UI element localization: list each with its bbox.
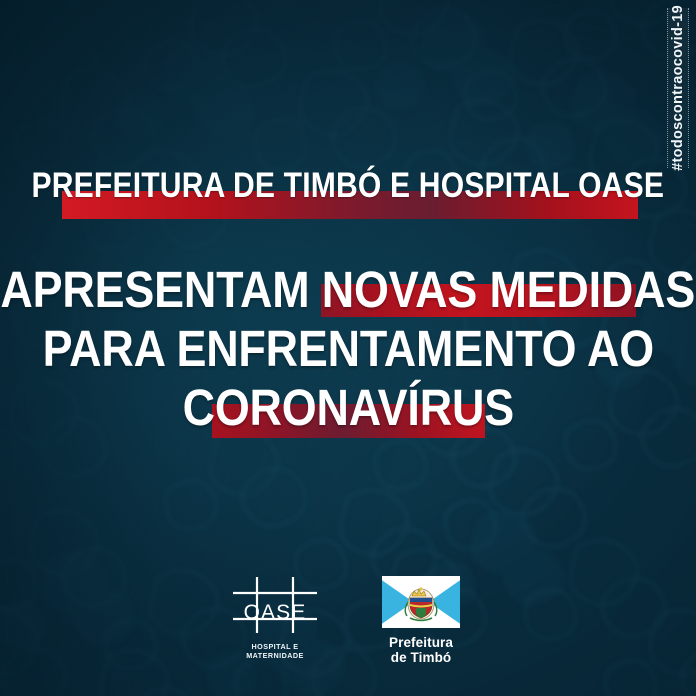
headline-block: PREFEITURA DE TIMBÓ E HOSPITAL OASE APRE… bbox=[0, 150, 696, 437]
logo-prefeitura-timbo: Prefeitura de Timbó bbox=[369, 573, 473, 666]
prefeitura-line-1: Prefeitura bbox=[369, 635, 473, 651]
headline-line-1-text: APRESENTAM NOVAS MEDIDAS bbox=[1, 264, 696, 315]
oase-wordmark: OASE bbox=[227, 601, 323, 625]
hashtag-strip: #todoscontraocovid-19 bbox=[667, 8, 689, 168]
kicker-text: PREFEITURA DE TIMBÓ E HOSPITAL OASE bbox=[32, 166, 665, 206]
headline-line-2: PARA ENFRENTAMENTO AO bbox=[0, 319, 696, 378]
main-headline: APRESENTAM NOVAS MEDIDAS PARA ENFRENTAME… bbox=[0, 260, 696, 437]
logo-row: OASE HOSPITAL E MATERNIDADE bbox=[0, 573, 696, 666]
prefeitura-wordmark: Prefeitura de Timbó bbox=[369, 635, 473, 666]
covid-announcement-poster: #todoscontraocovid-19 PREFEITURA DE TIMB… bbox=[0, 0, 696, 696]
headline-line-2-text: PARA ENFRENTAMENTO AO bbox=[42, 323, 653, 374]
headline-line-3: CORONAVÍRUS bbox=[0, 378, 696, 437]
hashtag-text: #todoscontraocovid-19 bbox=[670, 5, 686, 171]
headline-line-1: APRESENTAM NOVAS MEDIDAS bbox=[0, 260, 696, 319]
headline-line-3-text: CORONAVÍRUS bbox=[182, 382, 513, 433]
kicker-line: PREFEITURA DE TIMBÓ E HOSPITAL OASE bbox=[0, 150, 696, 222]
timbo-flag-icon bbox=[382, 576, 460, 628]
prefeitura-line-2: de Timbó bbox=[369, 650, 473, 666]
oase-tagline: HOSPITAL E MATERNIDADE bbox=[223, 642, 327, 660]
oase-cross-grid-icon: OASE bbox=[227, 573, 323, 637]
logo-oase: OASE HOSPITAL E MATERNIDADE bbox=[223, 573, 327, 660]
